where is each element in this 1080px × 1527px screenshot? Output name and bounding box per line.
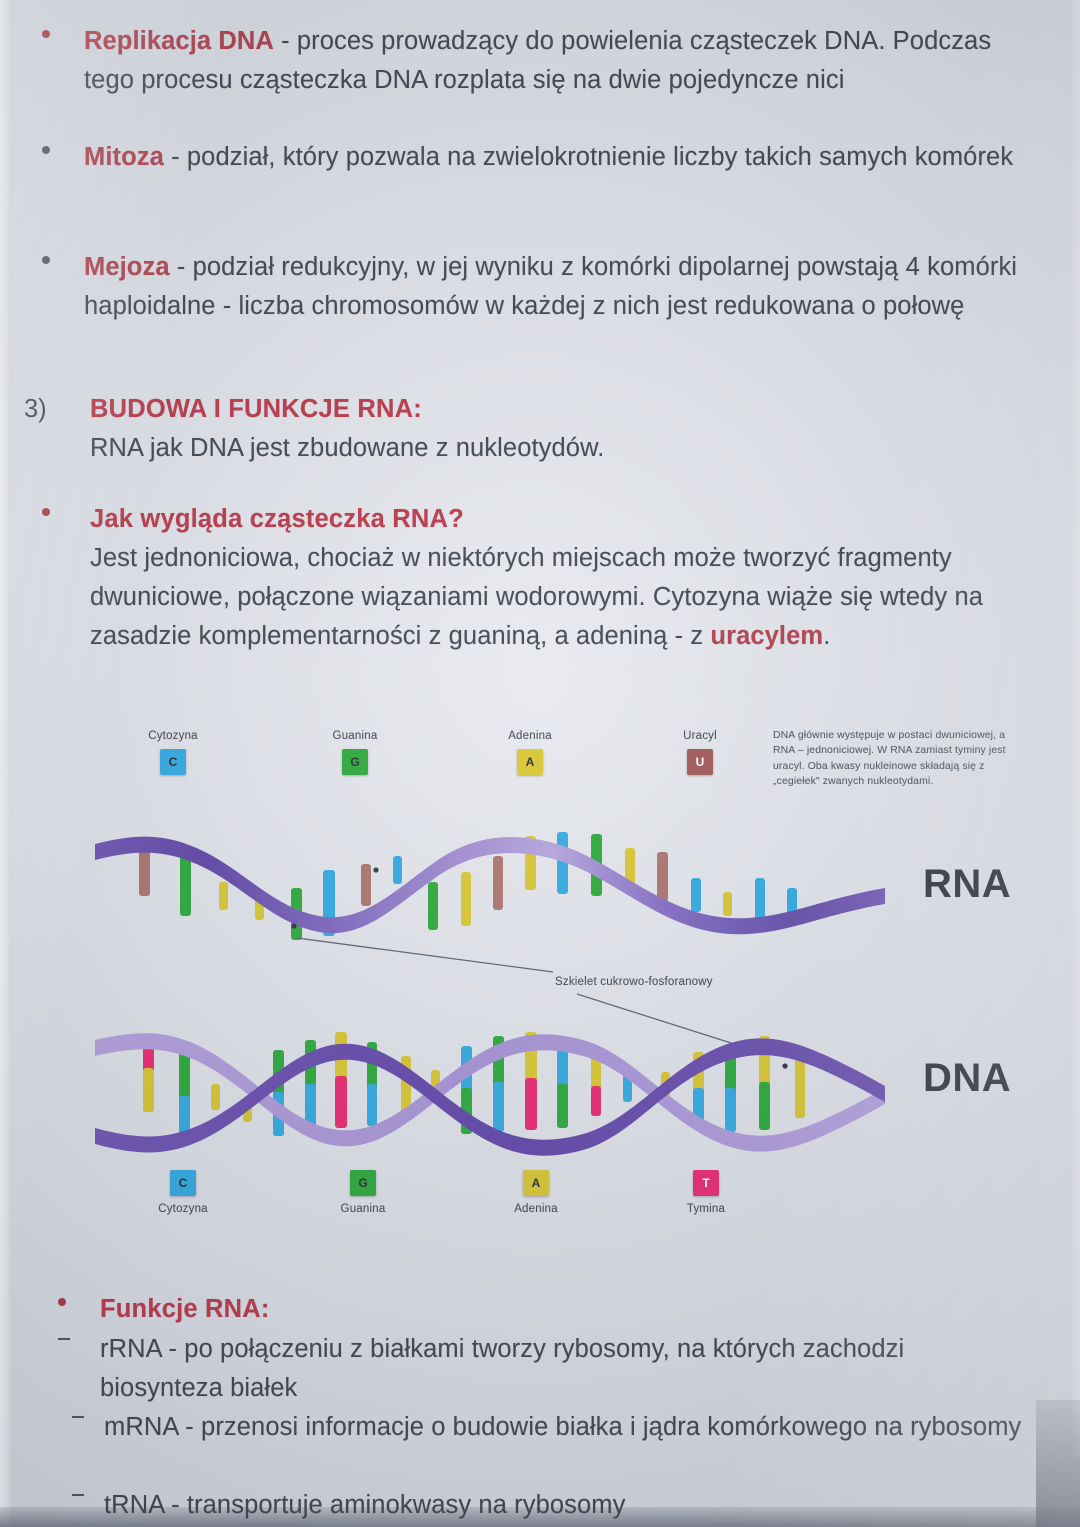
section-title: BUDOWA I FUNKCJE RNA: (90, 390, 1024, 429)
base-chip-t-bottom: T (693, 1170, 719, 1196)
legend-label-adenina-bottom: Adenina (476, 1203, 596, 1215)
caption-szkielet-cukrowo-fosforanowy: Szkielet cukrowo-fosforanowy (555, 976, 713, 988)
term-mitoza: Mitoza (84, 143, 164, 171)
base-chip-c-bottom: C (170, 1170, 196, 1196)
section-subtitle: RNA jak DNA jest zbudowane z nukleotydów… (90, 429, 1024, 468)
label-dna: DNA (923, 1056, 1011, 1101)
legend-item-adenina-bottom: A Adenina (476, 1170, 596, 1215)
legend-label-tymina-bottom: Tymina (646, 1203, 766, 1215)
base-chip-a-top: A (517, 749, 543, 775)
answer-text-part1: Jest jednoniciowa, chociaż w niektórych … (90, 544, 983, 650)
function-text-mrna: mRNA - przenosi informacje o budowie bia… (72, 1408, 1022, 1447)
dash-marker-icon (72, 1494, 84, 1496)
base-chip-g-top: G (342, 749, 368, 775)
dash-marker-icon (58, 1338, 70, 1340)
legend-label-uracyl-top: Uracyl (640, 730, 760, 742)
function-text-rrna: rRNA - po połączeniu z białkami tworzy r… (58, 1330, 1018, 1408)
bullet-mitoza: Mitoza - podział, który pozwala na zwiel… (42, 138, 1032, 177)
legend-item-guanina-bottom: G Guanina (303, 1170, 423, 1215)
question-block-rna: Jak wygląda cząsteczka RNA? Jest jednoni… (42, 500, 1032, 656)
base-chip-g-bottom: G (350, 1170, 376, 1196)
functions-rna-heading: Funkcje RNA: (58, 1290, 1038, 1329)
function-item-rrna: rRNA - po połączeniu z białkami tworzy r… (58, 1330, 1018, 1408)
function-item-trna: tRNA - transportuje aminokwasy na ryboso… (72, 1486, 1022, 1525)
legend-label-guanina-top: Guanina (295, 730, 415, 742)
base-chip-c-top: C (160, 749, 186, 775)
legend-label-adenina-top: Adenina (470, 730, 590, 742)
text-mitoza: - podział, który pozwala na zwielokrotni… (164, 143, 1013, 171)
base-chip-a-bottom: A (523, 1170, 549, 1196)
question-rna-appearance: Jak wygląda cząsteczka RNA? (90, 500, 1032, 539)
legend-item-adenina-top: Adenina A (470, 730, 590, 775)
function-text-trna: tRNA - transportuje aminokwasy na ryboso… (72, 1486, 1022, 1525)
photographed-notes-page: Replikacja DNA - proces prowadzący do po… (0, 0, 1080, 1527)
notes-content: Replikacja DNA - proces prowadzący do po… (0, 0, 1080, 1527)
base-chip-u-top: U (687, 749, 713, 775)
legend-item-cytozyna-top: Cytozyna C (113, 730, 233, 775)
legend-label-guanina-bottom: Guanina (303, 1203, 423, 1215)
legend-item-uracyl-top: Uracyl U (640, 730, 760, 775)
answer-highlight-uracylem: uracylem (710, 622, 823, 650)
text-mejoza: - podział redukcyjny, w jej wyniku z kom… (84, 253, 1017, 320)
section-budowa-funkcje-rna: 3) BUDOWA I FUNKCJE RNA: RNA jak DNA jes… (24, 390, 1024, 468)
legend-item-guanina-top: Guanina G (295, 730, 415, 775)
bullet-replikacja-dna: Replikacja DNA - proces prowadzący do po… (42, 22, 1032, 100)
legend-item-cytozyna-bottom: C Cytozyna (123, 1170, 243, 1215)
section-number: 3) (24, 390, 47, 429)
legend-item-tymina-bottom: T Tymina (646, 1170, 766, 1215)
term-mejoza: Mejoza (84, 253, 170, 281)
answer-text-part2: . (823, 622, 830, 650)
diagram-sidenote: DNA głównie występuje w postaci dwunicio… (773, 728, 1023, 790)
label-rna: RNA (923, 862, 1011, 907)
legend-label-cytozyna-top: Cytozyna (113, 730, 233, 742)
bullet-mejoza: Mejoza - podział redukcyjny, w jej wynik… (42, 248, 1032, 326)
rna-dna-structure-diagram: Cytozyna C Guanina G Adenina A Uracyl U … (95, 712, 1030, 1272)
function-item-mrna: mRNA - przenosi informacje o budowie bia… (72, 1408, 1022, 1447)
rna-single-strand-graphic (95, 830, 885, 940)
dna-double-helix-graphic (95, 1022, 885, 1157)
functions-rna-heading-row: Funkcje RNA: (58, 1290, 1038, 1329)
dash-marker-icon (72, 1416, 84, 1418)
term-replikacja-dna: Replikacja DNA (84, 27, 274, 55)
legend-label-cytozyna-bottom: Cytozyna (123, 1203, 243, 1215)
